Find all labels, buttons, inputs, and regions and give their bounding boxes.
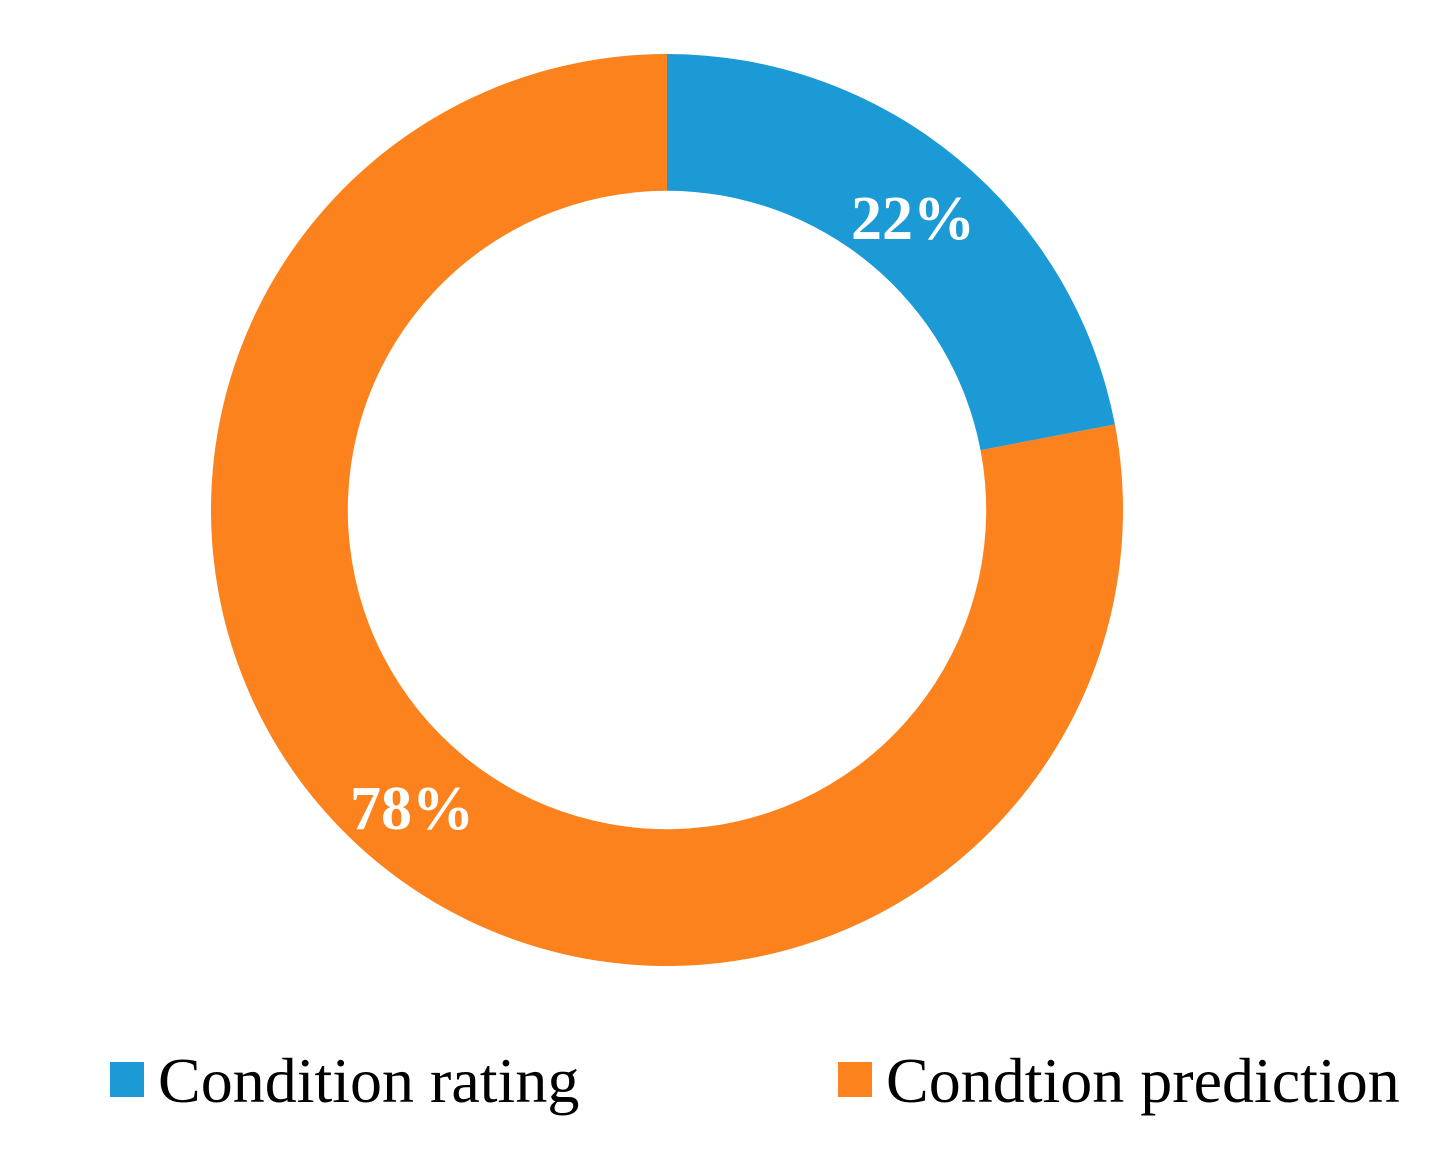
chart-legend: Condition rating Condtion prediction xyxy=(0,1030,1450,1140)
legend-item-condition-rating[interactable]: Condition rating xyxy=(110,1044,579,1114)
chart-figure: 22% 78% Condition rating Condtion predic… xyxy=(0,0,1450,1152)
legend-swatch-icon-condition-rating xyxy=(110,1062,144,1097)
slice-label-condtion-prediction: 78% xyxy=(350,778,474,840)
slice-label-condition-rating: 22% xyxy=(851,188,975,250)
legend-swatch-icon-condtion-prediction xyxy=(838,1062,872,1097)
legend-label-condition-rating: Condition rating xyxy=(158,1049,579,1113)
donut-slices-group xyxy=(211,54,1123,966)
donut-chart-svg xyxy=(0,0,1450,1000)
legend-item-condtion-prediction[interactable]: Condtion prediction xyxy=(838,1044,1400,1114)
legend-label-condtion-prediction: Condtion prediction xyxy=(886,1049,1400,1113)
donut-chart-plot-area: 22% 78% xyxy=(0,0,1450,1000)
